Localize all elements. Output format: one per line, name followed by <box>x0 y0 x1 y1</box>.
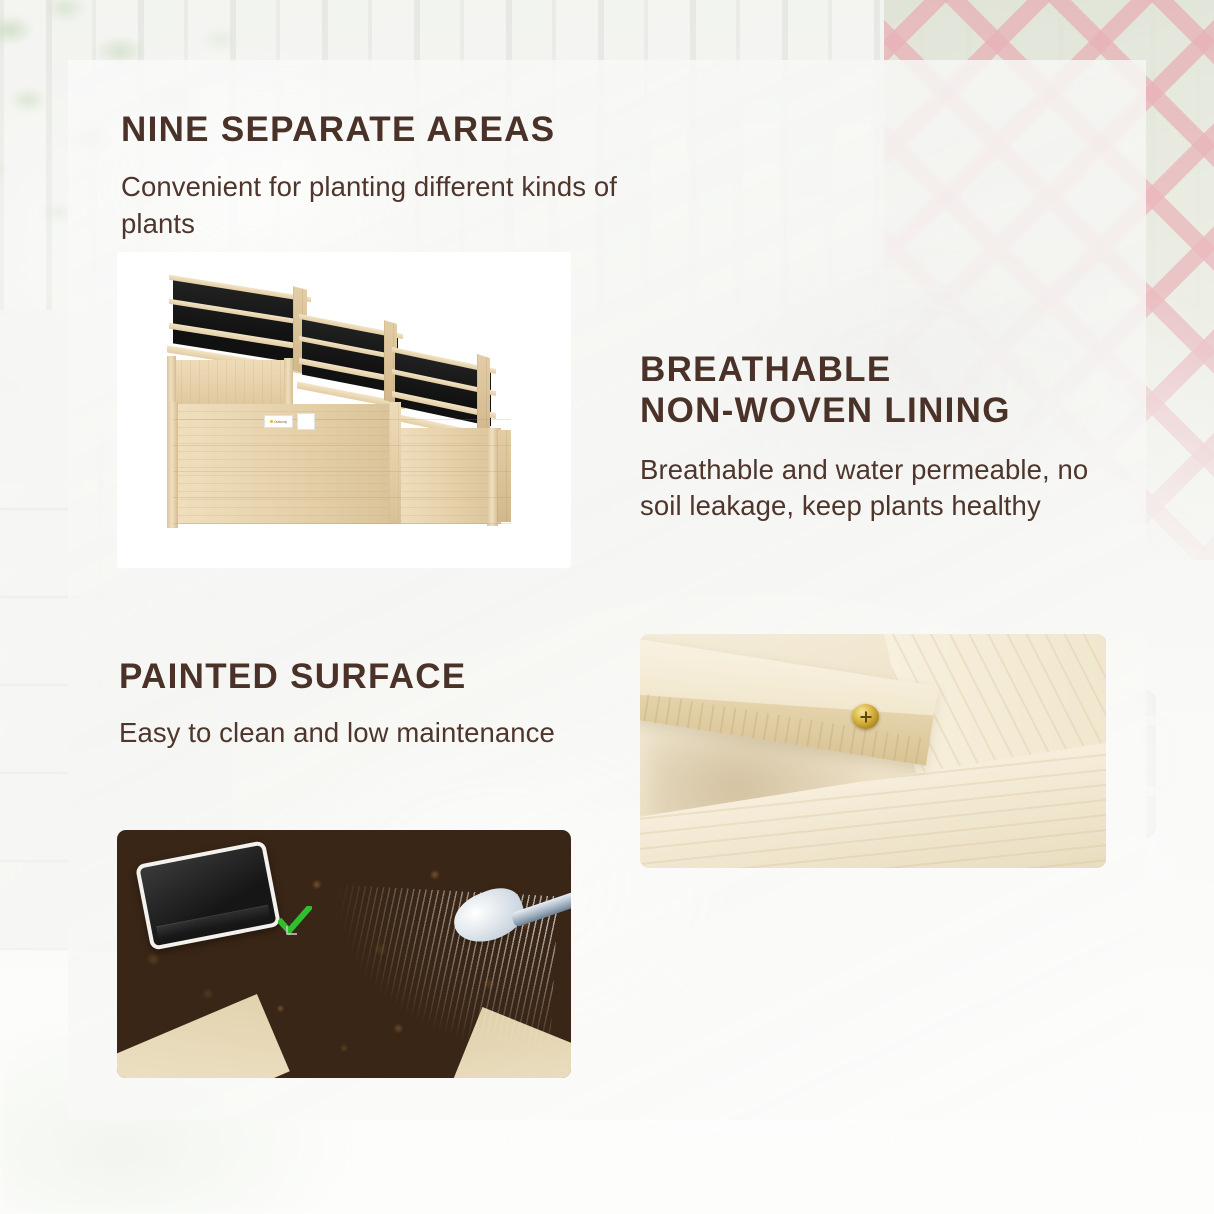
feature-body-nine-separate-areas: Convenient for planting different kinds … <box>121 169 681 242</box>
corner-post <box>389 402 401 524</box>
planter-side-panel <box>497 430 511 522</box>
green-check-icon <box>278 906 312 936</box>
wood-joint-closeup-photo <box>640 634 1106 868</box>
feature-heading-nine-separate-areas: NINE SEPARATE AREAS <box>121 110 681 151</box>
spec-tag <box>297 413 315 430</box>
product-photo-stage: Outsunny <box>117 252 571 568</box>
feature-block-painted-surface: PAINTED SURFACE Easy to clean and low ma… <box>119 657 589 752</box>
feature-block-nine-separate-areas: NINE SEPARATE AREAS Convenient for plant… <box>121 110 681 242</box>
feature-body-painted-surface: Easy to clean and low maintenance <box>119 715 589 752</box>
brand-tag: Outsunny <box>264 415 293 428</box>
planter-front-panel <box>393 428 501 524</box>
feature-heading-breathable-lining: BREATHABLE NON-WOVEN LINING <box>640 350 1120 432</box>
watering-can-spout <box>453 885 571 949</box>
brand-dot-icon <box>270 420 273 423</box>
feature-block-breathable-lining: BREATHABLE NON-WOVEN LINING Breathable a… <box>640 350 1120 525</box>
brand-tag-label: Outsunny <box>274 420 287 424</box>
soil-liner-watering-photo <box>117 830 571 1078</box>
spout-neck <box>511 890 571 929</box>
tier-side-panel <box>477 354 490 436</box>
feature-body-breathable-lining: Breathable and water permeable, no soil … <box>640 452 1120 525</box>
tiered-planter-photo: Outsunny <box>117 252 571 568</box>
corner-post <box>167 402 178 528</box>
feature-heading-painted-surface: PAINTED SURFACE <box>119 657 589 698</box>
